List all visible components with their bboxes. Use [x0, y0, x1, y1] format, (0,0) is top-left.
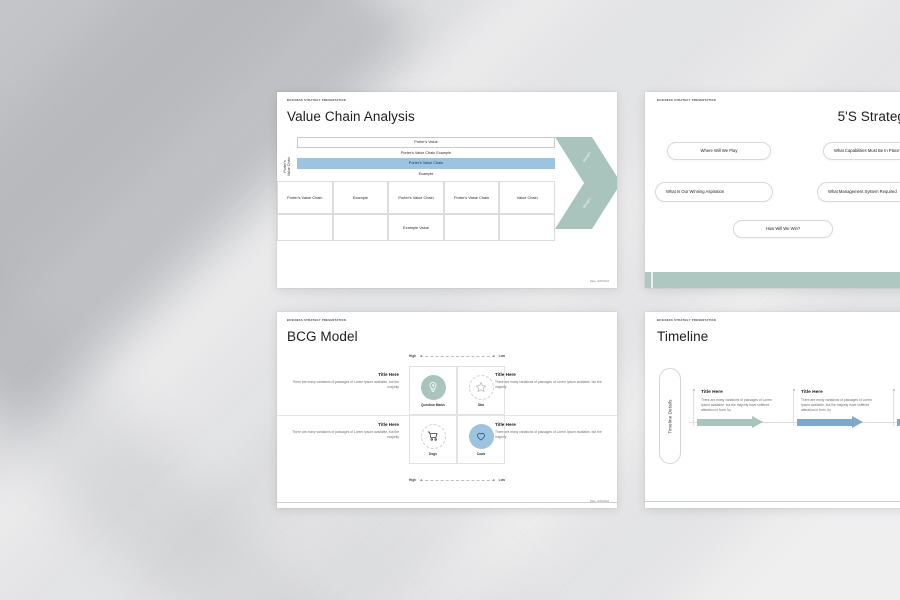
bcg-quadrant-question-marks[interactable]: Question Marks [409, 366, 457, 415]
bcg-description-block: Title Here There are many variations of … [287, 372, 399, 390]
slide-value-chain-analysis[interactable]: BUSINESS STRATEGY PRESENTATION Value Cha… [277, 92, 617, 288]
timeline-tick [693, 390, 694, 426]
arrow-head [752, 416, 763, 428]
footer-tick [651, 272, 653, 288]
arrow-shaft [797, 419, 853, 425]
slide-eyebrow: BUSINESS STRATEGY PRESENTATION [287, 99, 607, 102]
axis-arrow-line [420, 480, 495, 481]
table-cell[interactable]: Example [333, 181, 389, 214]
axis-label-high: High [409, 354, 416, 358]
table-cell[interactable] [333, 214, 389, 241]
slide-timeline[interactable]: BUSINESS STRATEGY PRESENTATION Timeline … [645, 312, 900, 508]
table-cell[interactable] [277, 214, 333, 241]
value-chain-bar[interactable]: Porter's Value [297, 137, 555, 148]
side-label-line2: Value Chain [288, 156, 292, 175]
timeline-details-pill[interactable]: Timeline Details [659, 368, 681, 464]
bcg-quadrant-label: Cows [477, 452, 486, 456]
strategy-pill-where-will-we-play[interactable]: Where Will We Play [667, 142, 771, 160]
value-chain-diagram: Porter's Value Chain Porter's Value Port… [277, 137, 617, 249]
block-body: There are many variations of passages of… [287, 380, 399, 390]
table-cell[interactable]: Porter's Value Chain [388, 181, 444, 214]
block-title: Title Here [287, 422, 399, 427]
shopping-cart-icon [421, 424, 446, 449]
margin-chevron-shape: Margin Margin [555, 137, 617, 229]
arrow-shaft [697, 419, 753, 425]
bcg-matrix-diagram: High Low Question Marks [277, 354, 617, 482]
slide-eyebrow: BUSINESS STRATEGY PRESENTATION [287, 319, 607, 322]
value-chain-bar[interactable]: Porter's Value Chain Example [297, 148, 555, 159]
axis-label-high: High [409, 478, 416, 482]
timeline-tick [893, 390, 894, 426]
shadow-band [0, 0, 603, 600]
slide-footer-band [645, 272, 900, 288]
block-body: There are many variations of passages of… [495, 380, 607, 390]
table-cell[interactable]: Example Value [388, 214, 444, 241]
timeline-tick [793, 390, 794, 426]
star-icon [469, 375, 494, 400]
arrow-head [852, 416, 863, 428]
bcg-quadrant-dogs[interactable]: Dogs [409, 415, 457, 464]
heart-icon [469, 424, 494, 449]
slide-5s-strategy-model[interactable]: BUSINESS STRATEGY PRESENTATION 5'S Strat… [645, 92, 900, 288]
card-title: Title Here [801, 390, 879, 395]
bcg-description-block: Title Here There are many variations of … [287, 422, 399, 440]
chevron-label-top: Margin [582, 151, 592, 163]
block-title: Title Here [495, 422, 607, 427]
table-cell[interactable] [499, 214, 555, 241]
bcg-quadrant-label: Star [478, 403, 484, 407]
slide-date: Date: 9/25/2024 [590, 280, 609, 283]
bcg-axis-top: High Low [409, 354, 505, 358]
shadow-band [0, 0, 900, 600]
bcg-quadrant-label: Question Marks [421, 403, 445, 407]
strategy-pill-group: Where Will We Play What Capabilities Mus… [645, 142, 900, 242]
value-chain-table: Porter's Value Chain Example Porter's Va… [277, 181, 555, 241]
slide-footer-rule [645, 501, 900, 502]
strategy-pill-winning-aspiration[interactable]: What Is Our Winning Aspiration [655, 182, 773, 202]
strategy-pill-capabilities[interactable]: What Capabilities Must Be In Place? [823, 142, 900, 160]
axis-arrow-line [420, 356, 495, 357]
card-body: There are many variations of passages of… [701, 398, 779, 413]
axis-label-low: Low [499, 478, 505, 482]
timeline-arrow [797, 416, 863, 429]
value-chain-bar[interactable]: Example [297, 169, 555, 180]
timeline-arrow [697, 416, 763, 429]
block-title: Title Here [287, 372, 399, 377]
card-body: There are many variations of passages of… [801, 398, 879, 413]
bcg-quadrant-grid: Question Marks Star Do [409, 366, 505, 464]
slide-bcg-model[interactable]: BUSINESS STRATEGY PRESENTATION BCG Model… [277, 312, 617, 508]
value-chain-bar-highlighted[interactable]: Porter's Value Chain [297, 158, 555, 169]
table-cell[interactable]: Porter's Value Chain [444, 181, 500, 214]
card-title: Title Here [701, 390, 779, 395]
shadow-band [115, 0, 900, 600]
page-title: 5'S Strategy Model [657, 109, 900, 124]
bcg-description-block: Title Here There are many variations of … [495, 372, 607, 390]
block-body: There are many variations of passages of… [287, 430, 399, 440]
table-cell[interactable]: Value Chain [499, 181, 555, 214]
block-title: Title Here [495, 372, 607, 377]
table-row: Example Value [277, 214, 555, 241]
table-row: Porter's Value Chain Example Porter's Va… [277, 181, 555, 214]
block-body: There are many variations of passages of… [495, 430, 607, 440]
value-chain-bars: Porter's Value Porter's Value Chain Exam… [297, 137, 555, 179]
bcg-quadrant-label: Dogs [429, 452, 437, 456]
slide-eyebrow: BUSINESS STRATEGY PRESENTATION [657, 319, 900, 322]
page-title: Timeline [657, 329, 900, 344]
background-shadow-overlay [0, 0, 900, 600]
shadow-band [324, 0, 900, 600]
axis-label-low: Low [499, 354, 505, 358]
timeline-pill-label: Timeline Details [668, 399, 673, 433]
timeline-diagram: Timeline Details Title Here There are ma… [645, 360, 900, 472]
bcg-description-block: Title Here There are many variations of … [495, 422, 607, 440]
table-cell[interactable]: Porter's Value Chain [277, 181, 333, 214]
bcg-axis-bottom: High Low [409, 478, 505, 482]
timeline-milestone-card: Title Here There are many variations of … [701, 390, 779, 413]
strategy-pill-management-system[interactable]: What Management System Required [817, 182, 900, 202]
timeline-milestone-card: Title Here There are many variations of … [801, 390, 879, 413]
strategy-pill-how-will-we-win[interactable]: How Will We Win? [733, 220, 833, 238]
shadow-band [0, 0, 479, 600]
table-cell[interactable] [444, 214, 500, 241]
page-title: Value Chain Analysis [287, 109, 607, 124]
lightbulb-question-icon [421, 375, 446, 400]
slide-footer-rule [277, 502, 617, 503]
chevron-label-bottom: Margin [582, 197, 592, 209]
page-title: BCG Model [287, 329, 607, 344]
slide-eyebrow: BUSINESS STRATEGY PRESENTATION [657, 99, 900, 102]
